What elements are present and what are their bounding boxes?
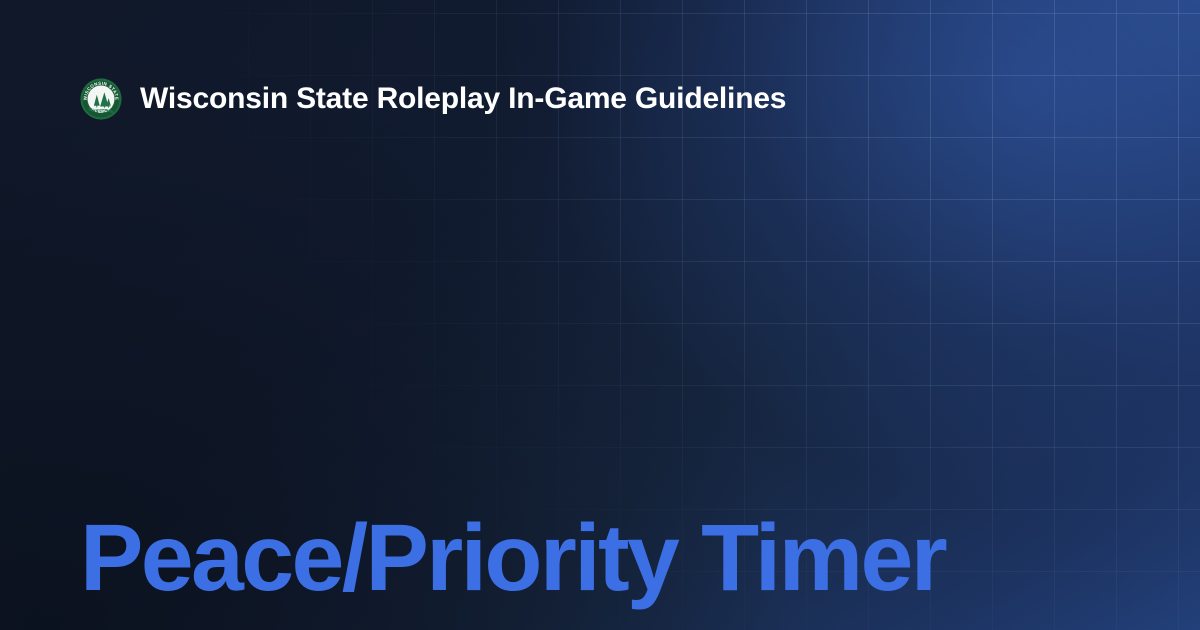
wisconsin-state-roleplay-seal-icon: WISCONSIN STATE ROLEPLAY	[80, 78, 122, 120]
og-banner-card: WISCONSIN STATE ROLEPLAY Wisconsin State…	[0, 0, 1200, 630]
header-title: Wisconsin State Roleplay In-Game Guideli…	[140, 84, 786, 114]
page-title: Peace/Priority Timer	[80, 509, 945, 608]
brand-header: WISCONSIN STATE ROLEPLAY Wisconsin State…	[80, 78, 786, 120]
